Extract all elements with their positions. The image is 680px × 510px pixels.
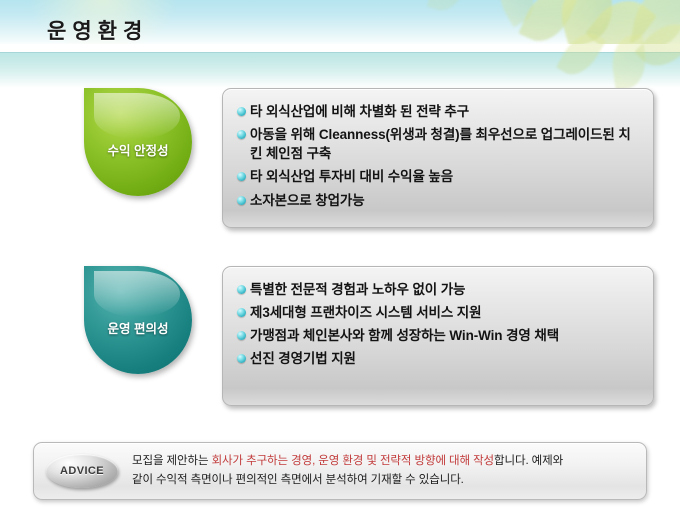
bullet-text: 제3세대형 프랜차이즈 시스템 서비스 지원 — [250, 303, 481, 322]
bullet-text: 소자본으로 창업가능 — [250, 191, 365, 210]
advice-line2: 같이 수익적 측면이나 편의적인 측면에서 분석하여 기재할 수 있습니다. — [132, 474, 464, 486]
bullet-icon — [237, 107, 246, 116]
advice-text: 모집을 제안하는 회사가 추구하는 경영, 운영 환경 및 전략적 방향에 대해… — [132, 452, 563, 491]
list-item: 선진 경영기법 지원 — [237, 349, 639, 368]
list-item: 타 외식산업 투자비 대비 수익율 높음 — [237, 167, 639, 186]
slide-canvas: 운영환경 수익 안정성 타 외식산업에 비해 차별화 된 전략 추구 아동을 위… — [0, 0, 680, 510]
bullet-text: 특별한 전문적 경험과 노하우 없이 가능 — [250, 280, 465, 299]
advice-badge: ADVICE — [46, 454, 118, 488]
bullet-text: 타 외식산업에 비해 차별화 된 전략 추구 — [250, 102, 469, 121]
bullet-text: 선진 경영기법 지원 — [250, 349, 356, 368]
advice-box: ADVICE 모집을 제안하는 회사가 추구하는 경영, 운영 환경 및 전략적… — [33, 442, 647, 500]
content-panel-profit-stability: 타 외식산업에 비해 차별화 된 전략 추구 아동을 위해 Cleanness(… — [222, 88, 654, 228]
advice-line1-suffix: 합니다. 예제와 — [494, 455, 563, 467]
page-title: 운영환경 — [47, 15, 148, 45]
section-badge-label: 운영 편의성 — [108, 318, 169, 337]
bullet-icon — [237, 130, 246, 139]
bullet-text: 아동을 위해 Cleanness(위생과 청결)를 최우선으로 업그레이드된 치… — [250, 125, 639, 163]
list-item: 특별한 전문적 경험과 노하우 없이 가능 — [237, 280, 639, 299]
list-item: 아동을 위해 Cleanness(위생과 청결)를 최우선으로 업그레이드된 치… — [237, 125, 639, 163]
advice-line1-highlight: 회사가 추구하는 경영, 운영 환경 및 전략적 방향에 대해 작성 — [212, 455, 494, 467]
bullet-icon — [237, 196, 246, 205]
section-badge-profit-stability[interactable]: 수익 안정성 — [84, 88, 192, 196]
content-panel-operational-convenience: 특별한 전문적 경험과 노하우 없이 가능 제3세대형 프랜차이즈 시스템 서비… — [222, 266, 654, 406]
list-item: 소자본으로 창업가능 — [237, 191, 639, 210]
list-item: 제3세대형 프랜차이즈 시스템 서비스 지원 — [237, 303, 639, 322]
bullet-text: 가맹점과 체인본사와 함께 성장하는 Win-Win 경영 채택 — [250, 326, 559, 345]
section-badge-label: 수익 안정성 — [108, 140, 169, 159]
bullet-icon — [237, 354, 246, 363]
bullet-icon — [237, 308, 246, 317]
bullet-icon — [237, 172, 246, 181]
bullet-icon — [237, 331, 246, 340]
list-item: 가맹점과 체인본사와 함께 성장하는 Win-Win 경영 채택 — [237, 326, 639, 345]
bullet-icon — [237, 285, 246, 294]
section-badge-operational-convenience[interactable]: 운영 편의성 — [84, 266, 192, 374]
bullet-text: 타 외식산업 투자비 대비 수익율 높음 — [250, 167, 453, 186]
advice-line1-prefix: 모집을 제안하는 — [132, 455, 212, 467]
advice-badge-label: ADVICE — [60, 465, 104, 477]
list-item: 타 외식산업에 비해 차별화 된 전략 추구 — [237, 102, 639, 121]
